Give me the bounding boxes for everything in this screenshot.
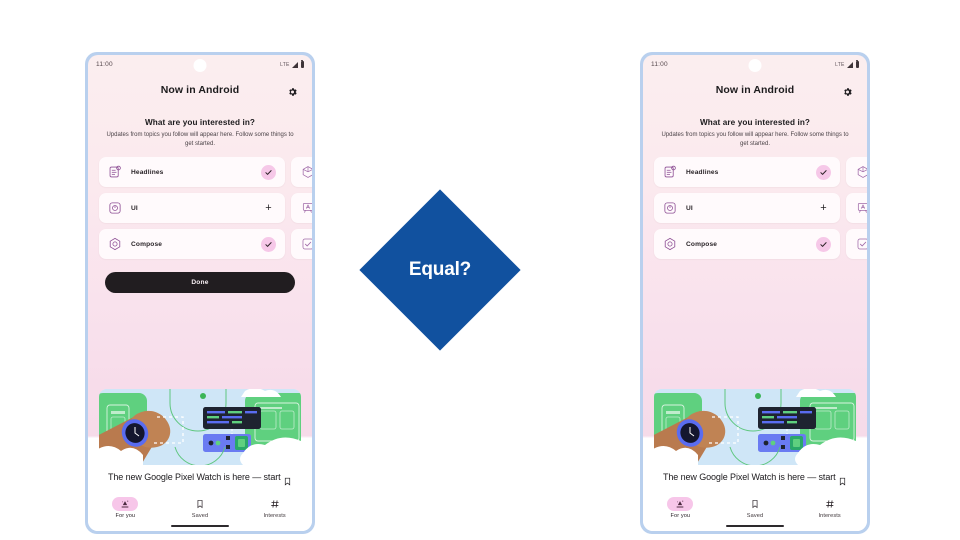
nav-label: For you <box>115 513 135 519</box>
topic-label: Headlines <box>131 169 261 176</box>
topic-check-button[interactable] <box>816 165 831 180</box>
lte-label: LTE <box>280 62 289 68</box>
onboarding-title: What are you interested in? <box>100 118 300 127</box>
article-hero-illustration <box>654 389 856 465</box>
document-badge-icon <box>663 165 677 179</box>
topic-add-button[interactable]: + <box>816 203 831 214</box>
bookmark-icon <box>187 497 213 511</box>
gear-icon[interactable] <box>842 85 853 96</box>
status-bar-indicators: LTE <box>835 61 859 68</box>
equal-diamond-label: Equal? <box>383 213 497 327</box>
bookmark-icon[interactable] <box>283 474 292 485</box>
topic-label: Compose <box>686 241 816 248</box>
feed-card[interactable]: The new Google Pixel Watch is here — sta… <box>654 389 856 494</box>
comparison-stage: 11:00 LTE Now in Android What are you in… <box>0 0 960 540</box>
nav-item-saved[interactable]: Saved <box>173 497 227 520</box>
feed-section: The new Google Pixel Watch is here — sta… <box>88 389 312 494</box>
topic-label: UI <box>686 205 816 212</box>
onboarding-header: What are you interested in? Updates from… <box>643 106 867 148</box>
cube-icon <box>301 165 312 179</box>
feed-card-body: The new Google Pixel Watch is here — sta… <box>654 465 856 494</box>
nav-item-interests[interactable]: Interests <box>248 497 302 520</box>
status-bar-indicators: LTE <box>280 61 304 68</box>
rounded-square-circle-icon <box>108 201 122 215</box>
topic-card-compose[interactable]: Compose <box>99 229 285 259</box>
checkbox-icon <box>856 237 867 251</box>
hash-icon <box>262 497 288 511</box>
topic-card-stub-cube[interactable] <box>846 157 867 187</box>
phone-screen-right: 11:00 LTE Now in Android What are you in… <box>643 55 867 531</box>
nav-item-interests[interactable]: Interests <box>803 497 857 520</box>
app-bar: Now in Android <box>643 74 867 106</box>
topic-card-stub-cube[interactable] <box>291 157 312 187</box>
app-bar: Now in Android <box>88 74 312 106</box>
topic-card-headlines[interactable]: Headlines <box>654 157 840 187</box>
feed-section: The new Google Pixel Watch is here — sta… <box>643 389 867 494</box>
phone-screenshot-right: 11:00 LTE Now in Android What are you in… <box>640 52 870 534</box>
nav-label: Saved <box>747 513 763 519</box>
bookmark-icon <box>742 497 768 511</box>
topic-check-button[interactable] <box>261 165 276 180</box>
article-title: The new Google Pixel Watch is here — sta… <box>663 472 838 484</box>
app-title: Now in Android <box>716 84 795 96</box>
onboarding-subtitle: Updates from topics you follow will appe… <box>100 131 300 148</box>
gesture-bar[interactable] <box>726 525 784 527</box>
topic-row: UI + <box>654 193 867 223</box>
checkbox-icon <box>301 237 312 251</box>
done-button-wrap: Done <box>88 265 312 293</box>
battery-icon <box>856 61 860 68</box>
status-bar: 11:00 LTE <box>88 55 312 74</box>
bookmark-icon[interactable] <box>838 474 847 485</box>
rounded-square-circle-icon <box>663 201 677 215</box>
easel-a-icon <box>301 201 312 215</box>
easel-a-icon <box>856 201 867 215</box>
hexagon-icon <box>108 237 122 251</box>
topic-list: Headlines <box>643 157 867 265</box>
topic-row: Headlines <box>654 157 867 187</box>
nav-label: Saved <box>192 513 208 519</box>
topic-card-headlines[interactable]: Headlines <box>99 157 285 187</box>
phone-screenshot-left: 11:00 LTE Now in Android What are you in… <box>85 52 315 534</box>
cube-icon <box>856 165 867 179</box>
camera-punchhole <box>749 59 762 72</box>
upgrade-icon <box>112 497 138 511</box>
topic-card-ui[interactable]: UI + <box>99 193 285 223</box>
topic-label: Headlines <box>686 169 816 176</box>
upgrade-icon <box>667 497 693 511</box>
gesture-bar-area <box>88 521 312 531</box>
hash-icon <box>817 497 843 511</box>
topic-row: UI + <box>99 193 312 223</box>
document-badge-icon <box>108 165 122 179</box>
topic-card-ui[interactable]: UI + <box>654 193 840 223</box>
topic-card-stub-easel[interactable] <box>846 193 867 223</box>
app-title: Now in Android <box>161 84 240 96</box>
nav-label: Interests <box>818 513 840 519</box>
lte-label: LTE <box>835 62 844 68</box>
done-button[interactable]: Done <box>105 272 295 293</box>
signal-icon <box>292 62 298 68</box>
status-bar-time: 11:00 <box>651 61 668 68</box>
phone-screen-left: 11:00 LTE Now in Android What are you in… <box>88 55 312 531</box>
nav-item-saved[interactable]: Saved <box>728 497 782 520</box>
topic-list: Headlines <box>88 157 312 265</box>
onboarding-header: What are you interested in? Updates from… <box>88 106 312 148</box>
signal-icon <box>847 62 853 68</box>
bottom-navigation: For you Saved Interests <box>643 494 867 522</box>
onboarding-subtitle: Updates from topics you follow will appe… <box>655 131 855 148</box>
nav-label: For you <box>670 513 690 519</box>
article-hero-illustration <box>99 389 301 465</box>
bottom-navigation: For you Saved Interests <box>88 494 312 522</box>
topic-label: Compose <box>131 241 261 248</box>
gesture-bar-area <box>643 521 867 531</box>
topic-label: UI <box>131 205 261 212</box>
topic-card-stub-checkbox[interactable] <box>846 229 867 259</box>
topic-check-button[interactable] <box>261 237 276 252</box>
gesture-bar[interactable] <box>171 525 229 527</box>
topic-card-stub-easel[interactable] <box>291 193 312 223</box>
article-title: The new Google Pixel Watch is here — sta… <box>108 472 283 484</box>
feed-card[interactable]: The new Google Pixel Watch is here — sta… <box>99 389 301 494</box>
onboarding-title: What are you interested in? <box>655 118 855 127</box>
topic-card-compose[interactable]: Compose <box>654 229 840 259</box>
topic-row: Compose <box>99 229 312 259</box>
battery-icon <box>301 61 305 68</box>
topic-add-button[interactable]: + <box>261 203 276 214</box>
nav-label: Interests <box>263 513 285 519</box>
feed-card-body: The new Google Pixel Watch is here — sta… <box>99 465 301 494</box>
status-bar-time: 11:00 <box>96 61 113 68</box>
hexagon-icon <box>663 237 677 251</box>
topic-card-stub-checkbox[interactable] <box>291 229 312 259</box>
topic-row: Compose <box>654 229 867 259</box>
nav-item-for-you[interactable]: For you <box>98 497 152 520</box>
topic-check-button[interactable] <box>816 237 831 252</box>
nav-item-for-you[interactable]: For you <box>653 497 707 520</box>
camera-punchhole <box>194 59 207 72</box>
topic-row: Headlines <box>99 157 312 187</box>
gear-icon[interactable] <box>287 85 298 96</box>
status-bar: 11:00 LTE <box>643 55 867 74</box>
